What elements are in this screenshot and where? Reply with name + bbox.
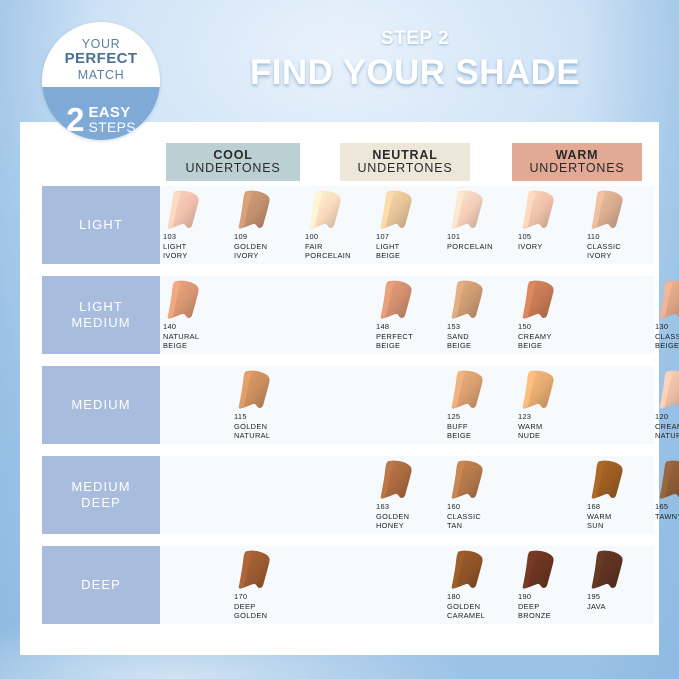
badge-line-3: MATCH bbox=[42, 68, 160, 82]
foundation-smear-icon bbox=[162, 189, 216, 233]
shade-code: 140 bbox=[163, 322, 227, 332]
foundation-smear-icon bbox=[586, 189, 640, 233]
shade-code: 115 bbox=[234, 412, 298, 422]
foundation-smear-icon bbox=[654, 459, 679, 503]
foundation-smear-icon bbox=[233, 549, 287, 593]
shade-label: 150CREAMY BEIGE bbox=[518, 322, 582, 351]
badge-step-number: 2 bbox=[66, 105, 84, 135]
undertone-neutral-name: NEUTRAL bbox=[372, 149, 437, 163]
shade-name: CLASSIC TAN bbox=[447, 512, 511, 531]
shade-swatch[interactable]: 140NATURAL BEIGE bbox=[160, 276, 222, 354]
shade-code: 153 bbox=[447, 322, 511, 332]
shade-label: 105IVORY bbox=[518, 232, 582, 251]
shade-label: 170DEEP GOLDEN bbox=[234, 592, 298, 621]
shade-swatch[interactable]: 160CLASSIC TAN bbox=[444, 456, 506, 534]
shade-name: BUFF BEIGE bbox=[447, 422, 511, 441]
row-swatch-cells: 103LIGHT IVORY109GOLDEN IVORY100FAIR POR… bbox=[160, 186, 659, 264]
shade-label: 130CLASSIC BEIGE bbox=[655, 322, 679, 351]
foundation-smear-icon bbox=[446, 279, 500, 323]
row-label-medium-deep: MEDIUM DEEP bbox=[42, 456, 160, 534]
shade-code: 180 bbox=[447, 592, 511, 602]
shade-name: GOLDEN CARAMEL bbox=[447, 602, 511, 621]
shade-label: 120CREAMY NATURAL bbox=[655, 412, 679, 441]
shade-swatch[interactable]: 107LIGHT BEIGE bbox=[373, 186, 435, 264]
shade-code: 101 bbox=[447, 232, 511, 242]
shade-name: CLASSIC BEIGE bbox=[655, 332, 679, 351]
badge-bottom-text: 2 EASY STEPS bbox=[42, 105, 160, 135]
shade-code: 165 bbox=[655, 502, 679, 512]
shade-code: 105 bbox=[518, 232, 582, 242]
shade-name: IVORY bbox=[518, 242, 582, 252]
badge-top-text: YOUR PERFECT MATCH bbox=[42, 37, 160, 82]
shade-code: 190 bbox=[518, 592, 582, 602]
shade-swatch[interactable]: 180GOLDEN CARAMEL bbox=[444, 546, 506, 624]
shade-code: 109 bbox=[234, 232, 298, 242]
shade-code: 163 bbox=[376, 502, 440, 512]
shade-code: 123 bbox=[518, 412, 582, 422]
row-label-medium: MEDIUM bbox=[42, 366, 160, 444]
shade-label: 165TAWNY bbox=[655, 502, 679, 521]
shade-code: 107 bbox=[376, 232, 440, 242]
foundation-smear-icon bbox=[517, 369, 571, 413]
shade-swatch[interactable]: 100FAIR PORCELAIN bbox=[302, 186, 364, 264]
shade-row: LIGHT103LIGHT IVORY109GOLDEN IVORY100FAI… bbox=[20, 186, 659, 264]
shade-swatch[interactable]: 165TAWNY bbox=[652, 456, 679, 534]
shade-swatch[interactable]: 195JAVA bbox=[584, 546, 646, 624]
foundation-smear-icon bbox=[517, 279, 571, 323]
shade-label: 110CLASSIC IVORY bbox=[587, 232, 651, 261]
shade-label: 101PORCELAIN bbox=[447, 232, 511, 251]
badge-line-2: PERFECT bbox=[42, 51, 160, 68]
shade-swatch[interactable]: 120CREAMY NATURAL bbox=[652, 366, 679, 444]
shade-swatch[interactable]: 115GOLDEN NATURAL bbox=[231, 366, 293, 444]
shade-label: 100FAIR PORCELAIN bbox=[305, 232, 369, 261]
foundation-smear-icon bbox=[233, 369, 287, 413]
badge-steps-text: EASY STEPS bbox=[88, 105, 135, 134]
shade-swatch[interactable]: 103LIGHT IVORY bbox=[160, 186, 222, 264]
foundation-smear-icon bbox=[446, 189, 500, 233]
shade-swatch[interactable]: 130CLASSIC BEIGE bbox=[652, 276, 679, 354]
shade-name: NATURAL BEIGE bbox=[163, 332, 227, 351]
shade-label: 190DEEP BRONZE bbox=[518, 592, 582, 621]
shade-row: MEDIUM115GOLDEN NATURAL125BUFF BEIGE123W… bbox=[20, 366, 659, 444]
row-swatch-cells: 140NATURAL BEIGE148PERFECT BEIGE153SAND … bbox=[160, 276, 659, 354]
row-label-light-medium: LIGHT MEDIUM bbox=[42, 276, 160, 354]
shade-swatch[interactable]: 101PORCELAIN bbox=[444, 186, 506, 264]
undertone-neutral-sub: UNDERTONES bbox=[357, 162, 452, 176]
shade-code: 150 bbox=[518, 322, 582, 332]
shade-label: 109GOLDEN IVORY bbox=[234, 232, 298, 261]
shade-code: 130 bbox=[655, 322, 679, 332]
shade-row: LIGHT MEDIUM140NATURAL BEIGE148PERFECT B… bbox=[20, 276, 659, 354]
title-block: STEP 2 FIND YOUR SHADE bbox=[180, 28, 650, 93]
shade-code: 160 bbox=[447, 502, 511, 512]
row-swatch-cells: 163GOLDEN HONEY160CLASSIC TAN168WARM SUN… bbox=[160, 456, 659, 534]
shade-code: 100 bbox=[305, 232, 369, 242]
row-swatch-cells: 115GOLDEN NATURAL125BUFF BEIGE123WARM NU… bbox=[160, 366, 659, 444]
foundation-smear-icon bbox=[446, 549, 500, 593]
page-title: FIND YOUR SHADE bbox=[180, 53, 650, 93]
shade-name: CREAMY BEIGE bbox=[518, 332, 582, 351]
perfect-match-badge: YOUR PERFECT MATCH 2 EASY STEPS bbox=[42, 22, 160, 140]
shade-name: GOLDEN NATURAL bbox=[234, 422, 298, 441]
shade-code: 170 bbox=[234, 592, 298, 602]
foundation-smear-icon bbox=[375, 279, 429, 323]
foundation-smear-icon bbox=[446, 459, 500, 503]
foundation-smear-icon bbox=[517, 189, 571, 233]
shade-label: 160CLASSIC TAN bbox=[447, 502, 511, 531]
undertone-header-cool: COOL UNDERTONES bbox=[166, 143, 300, 181]
foundation-smear-icon bbox=[375, 189, 429, 233]
shade-code: 120 bbox=[655, 412, 679, 422]
step-label: STEP 2 bbox=[180, 28, 650, 50]
shade-name: GOLDEN IVORY bbox=[234, 242, 298, 261]
foundation-smear-icon bbox=[654, 369, 679, 413]
shade-name: LIGHT IVORY bbox=[163, 242, 227, 261]
foundation-smear-icon bbox=[517, 549, 571, 593]
foundation-smear-icon bbox=[304, 189, 358, 233]
undertone-cool-sub: UNDERTONES bbox=[185, 162, 280, 176]
shade-swatch[interactable]: 125BUFF BEIGE bbox=[444, 366, 506, 444]
shade-label: 123WARM NUDE bbox=[518, 412, 582, 441]
undertone-cool-name: COOL bbox=[213, 149, 252, 163]
shade-label: 125BUFF BEIGE bbox=[447, 412, 511, 441]
shade-swatch[interactable]: 123WARM NUDE bbox=[515, 366, 577, 444]
shade-swatch[interactable]: 170DEEP GOLDEN bbox=[231, 546, 293, 624]
foundation-smear-icon bbox=[586, 459, 640, 503]
shade-swatch[interactable]: 109GOLDEN IVORY bbox=[231, 186, 293, 264]
shade-row: MEDIUM DEEP163GOLDEN HONEY160CLASSIC TAN… bbox=[20, 456, 659, 534]
shade-name: LIGHT BEIGE bbox=[376, 242, 440, 261]
foundation-smear-icon bbox=[162, 279, 216, 323]
shade-name: TAWNY bbox=[655, 512, 679, 522]
shade-label: 103LIGHT IVORY bbox=[163, 232, 227, 261]
shade-label: 107LIGHT BEIGE bbox=[376, 232, 440, 261]
header: YOUR PERFECT MATCH 2 EASY STEPS STEP 2 F… bbox=[0, 0, 679, 122]
shade-label: 180GOLDEN CARAMEL bbox=[447, 592, 511, 621]
shade-name: DEEP BRONZE bbox=[518, 602, 582, 621]
shade-swatch[interactable]: 150CREAMY BEIGE bbox=[515, 276, 577, 354]
row-label-light: LIGHT bbox=[42, 186, 160, 264]
foundation-smear-icon bbox=[233, 189, 287, 233]
shade-name: JAVA bbox=[587, 602, 651, 612]
shade-swatch[interactable]: 190DEEP BRONZE bbox=[515, 546, 577, 624]
shade-code: 168 bbox=[587, 502, 651, 512]
undertone-warm-name: WARM bbox=[556, 149, 599, 163]
shade-code: 148 bbox=[376, 322, 440, 332]
badge-easy-label: EASY bbox=[88, 105, 135, 120]
shade-swatch[interactable]: 168WARM SUN bbox=[584, 456, 646, 534]
shade-swatch[interactable]: 148PERFECT BEIGE bbox=[373, 276, 435, 354]
row-swatch-cells: 170DEEP GOLDEN180GOLDEN CARAMEL190DEEP B… bbox=[160, 546, 659, 624]
shade-code: 103 bbox=[163, 232, 227, 242]
shade-label: 195JAVA bbox=[587, 592, 651, 611]
shade-name: WARM SUN bbox=[587, 512, 651, 531]
shade-name: SAND BEIGE bbox=[447, 332, 511, 351]
shade-code: 195 bbox=[587, 592, 651, 602]
undertone-header-neutral: NEUTRAL UNDERTONES bbox=[340, 143, 470, 181]
shade-chart-card: COOL UNDERTONES NEUTRAL UNDERTONES WARM … bbox=[20, 122, 659, 655]
shade-swatch[interactable]: 110CLASSIC IVORY bbox=[584, 186, 646, 264]
shade-label: 115GOLDEN NATURAL bbox=[234, 412, 298, 441]
shade-label: 148PERFECT BEIGE bbox=[376, 322, 440, 351]
foundation-smear-icon bbox=[375, 459, 429, 503]
shade-name: PORCELAIN bbox=[447, 242, 511, 252]
shade-label: 153SAND BEIGE bbox=[447, 322, 511, 351]
shade-code: 125 bbox=[447, 412, 511, 422]
shade-row: DEEP170DEEP GOLDEN180GOLDEN CARAMEL190DE… bbox=[20, 546, 659, 624]
row-label-deep: DEEP bbox=[42, 546, 160, 624]
foundation-smear-icon bbox=[654, 279, 679, 323]
shade-code: 110 bbox=[587, 232, 651, 242]
shade-swatch[interactable]: 153SAND BEIGE bbox=[444, 276, 506, 354]
foundation-smear-icon bbox=[586, 549, 640, 593]
shade-name: CREAMY NATURAL bbox=[655, 422, 679, 441]
badge-line-1: YOUR bbox=[42, 37, 160, 51]
shade-name: FAIR PORCELAIN bbox=[305, 242, 369, 261]
shade-swatch[interactable]: 105IVORY bbox=[515, 186, 577, 264]
badge-steps-label: STEPS bbox=[88, 120, 135, 134]
shade-name: DEEP GOLDEN bbox=[234, 602, 298, 621]
foundation-smear-icon bbox=[446, 369, 500, 413]
shade-label: 163GOLDEN HONEY bbox=[376, 502, 440, 531]
shade-label: 168WARM SUN bbox=[587, 502, 651, 531]
shade-name: GOLDEN HONEY bbox=[376, 512, 440, 531]
shade-label: 140NATURAL BEIGE bbox=[163, 322, 227, 351]
shade-swatch[interactable]: 163GOLDEN HONEY bbox=[373, 456, 435, 534]
undertone-warm-sub: UNDERTONES bbox=[529, 162, 624, 176]
shade-name: PERFECT BEIGE bbox=[376, 332, 440, 351]
shade-name: WARM NUDE bbox=[518, 422, 582, 441]
undertone-header-warm: WARM UNDERTONES bbox=[512, 143, 642, 181]
shade-name: CLASSIC IVORY bbox=[587, 242, 651, 261]
